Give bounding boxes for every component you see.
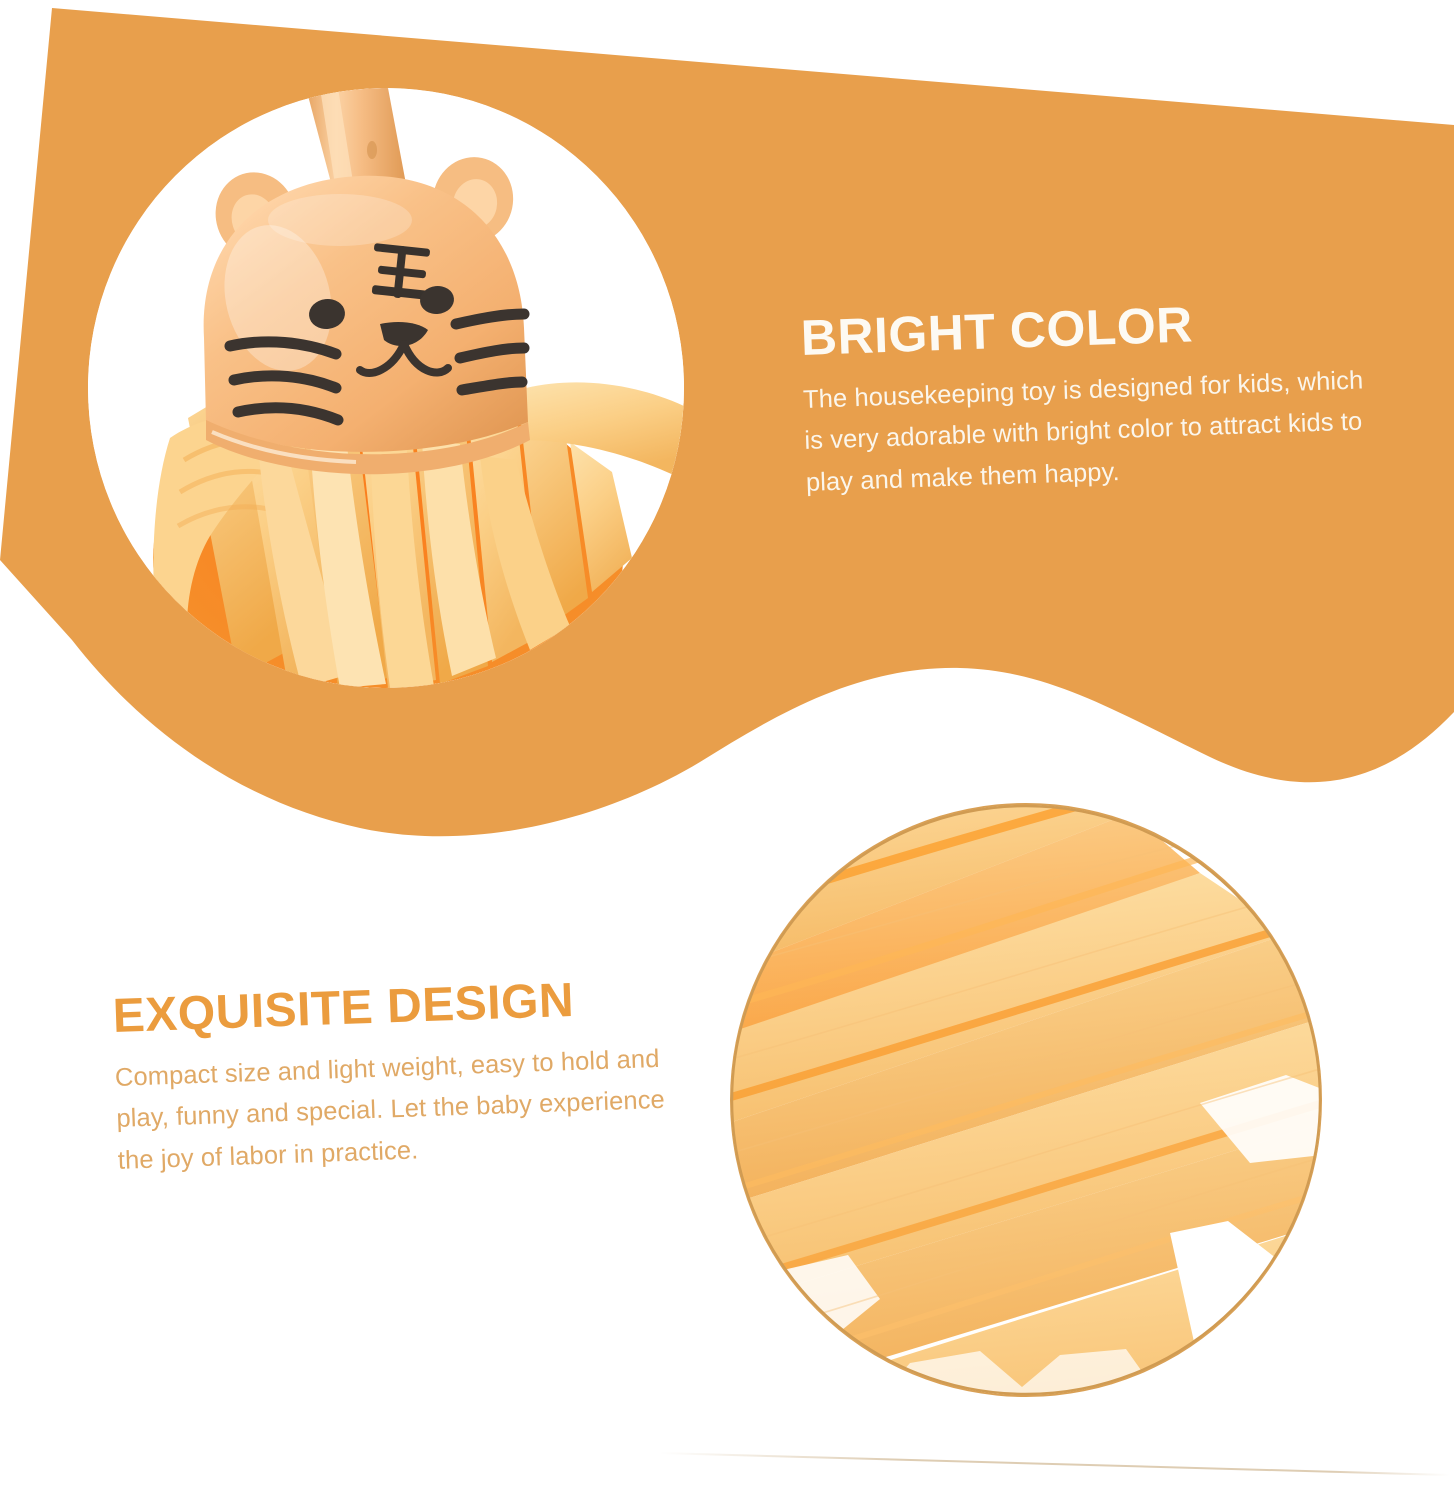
bottom-hairline-divider xyxy=(660,1452,1450,1476)
tiger-mop-illustration xyxy=(88,88,684,688)
exquisite-design-text-block: EXQUISITE DESIGN Compact size and light … xyxy=(112,972,688,1182)
infographic-canvas: BRIGHT COLOR The housekeeping toy is des… xyxy=(0,0,1454,1500)
bright-color-text-block: BRIGHT COLOR The housekeeping toy is des… xyxy=(800,292,1376,504)
exquisite-design-headline: EXQUISITE DESIGN xyxy=(112,972,683,1042)
tiger-mop-head-photo xyxy=(88,88,684,688)
exquisite-design-body: Compact size and light weight, easy to h… xyxy=(114,1038,688,1182)
felt-strips-illustration xyxy=(730,803,1322,1397)
felt-strips-photo xyxy=(730,803,1322,1397)
bright-color-body: The housekeeping toy is designed for kid… xyxy=(802,360,1376,504)
